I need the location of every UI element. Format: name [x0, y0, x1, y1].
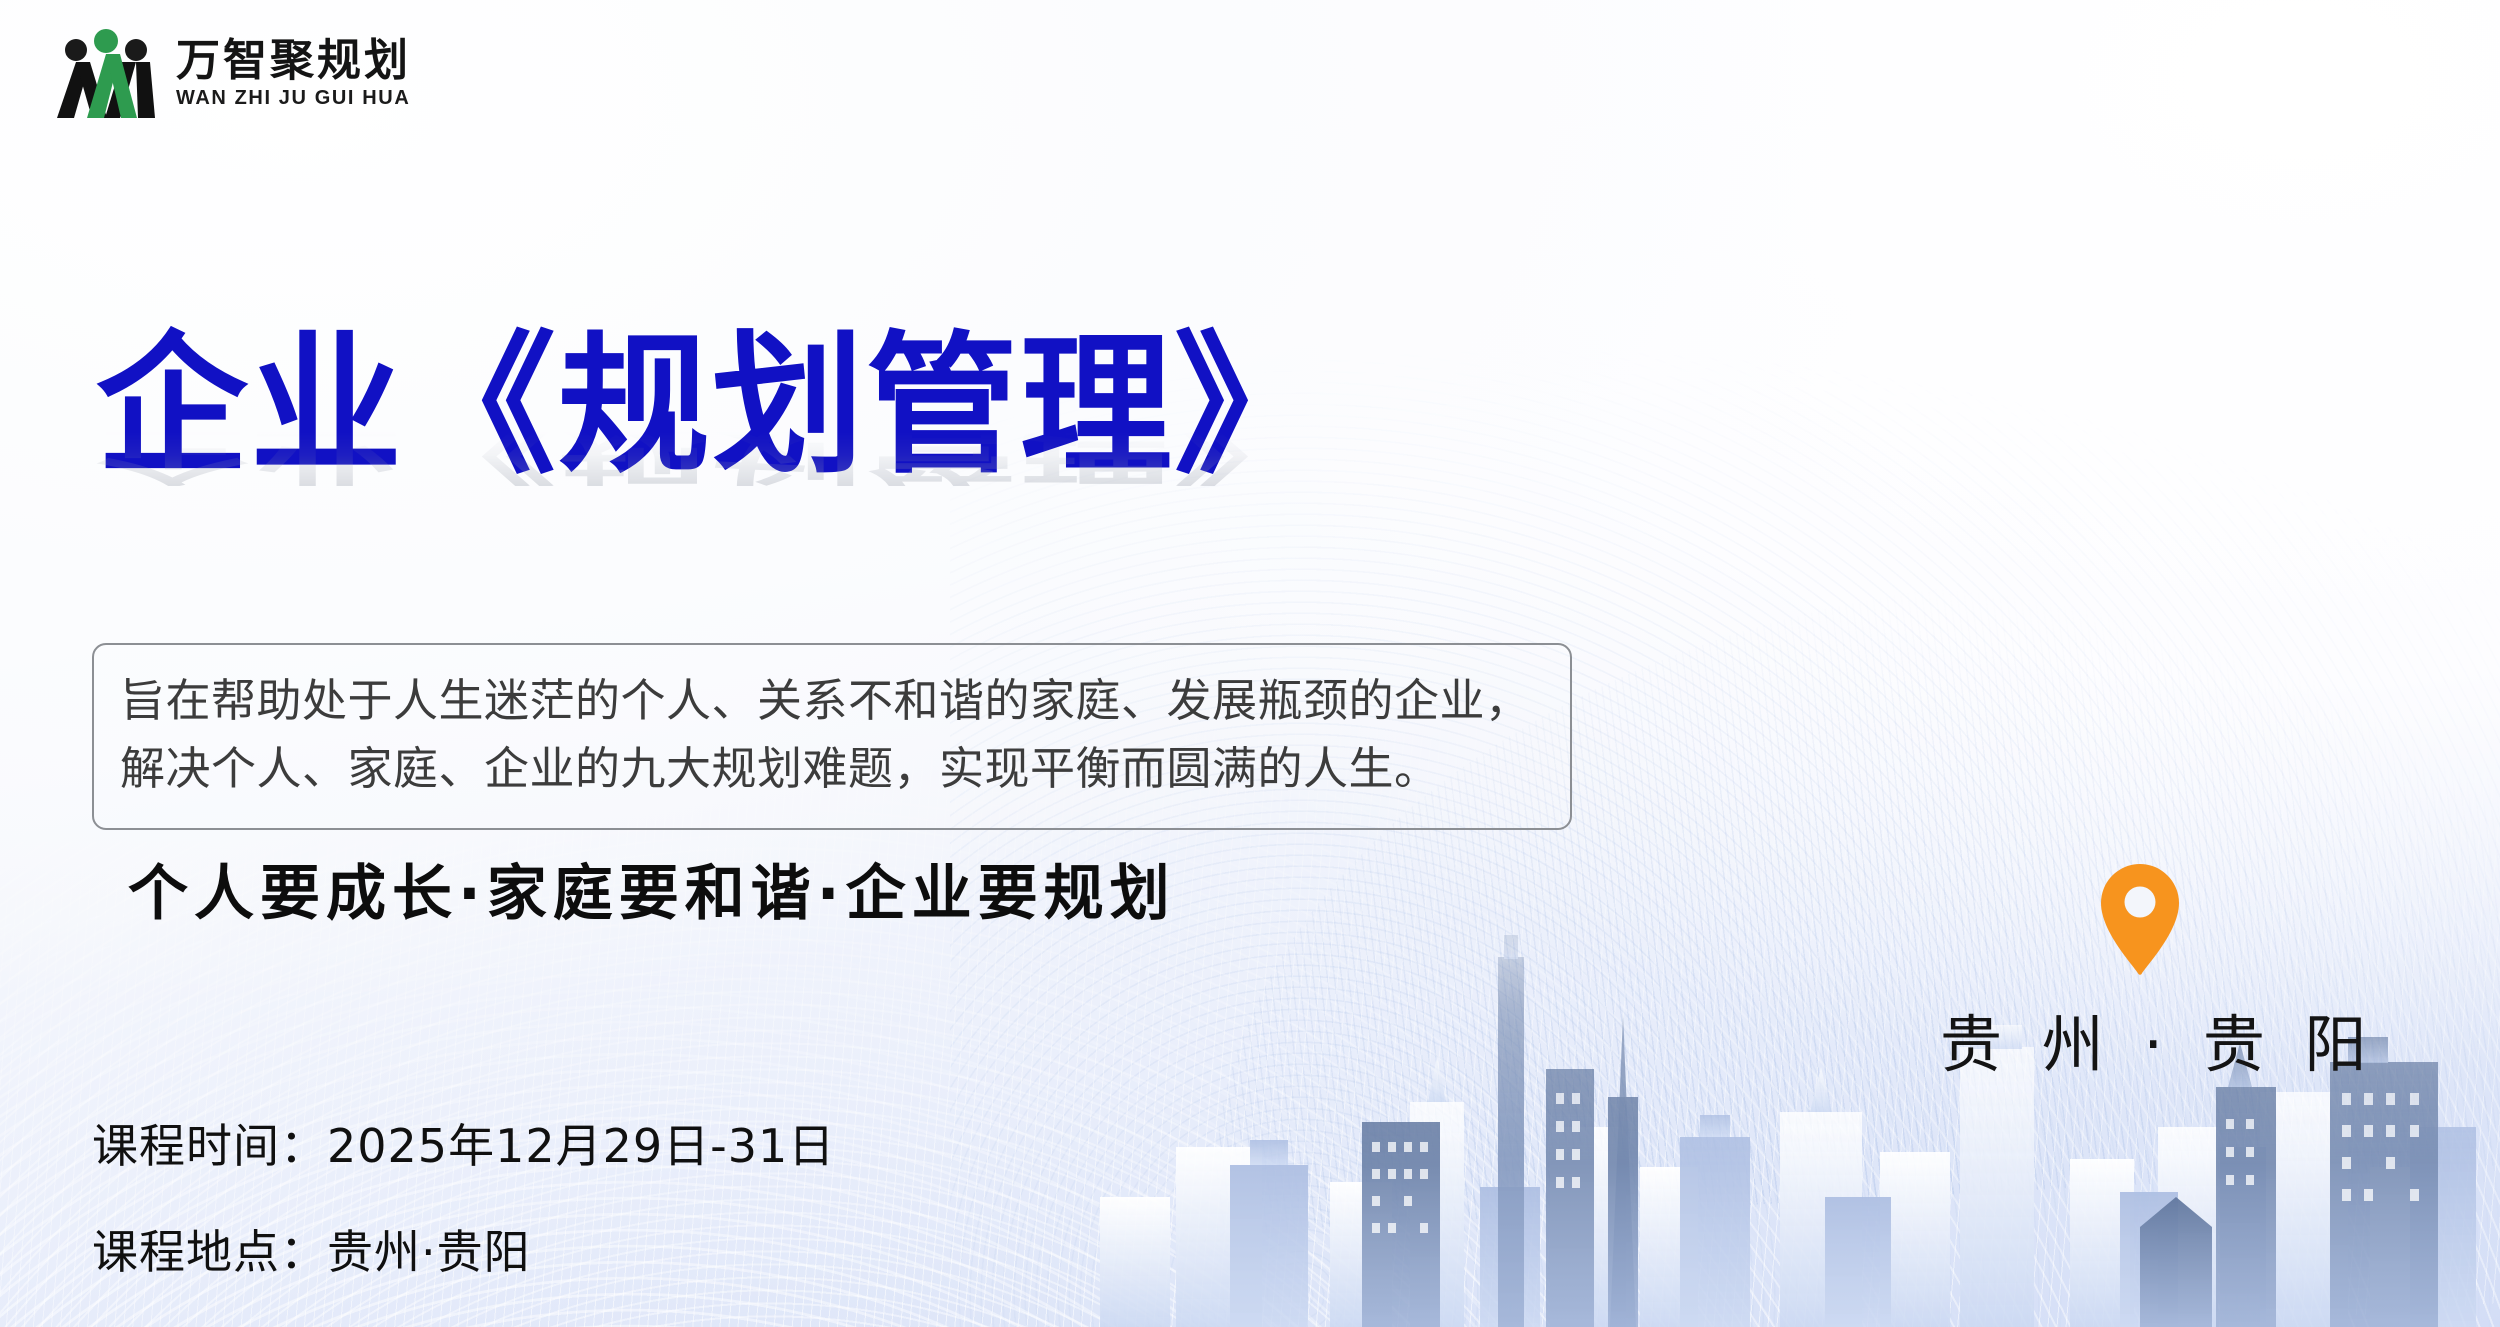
poster-canvas: 万智聚规划 WAN ZHI JU GUI HUA 企业《规划管理》 企业《规划管…	[0, 0, 2500, 1327]
hero-title-block: 企业《规划管理》 企业《规划管理》	[96, 330, 1656, 638]
location-label: 贵 州 · 贵 阳	[1940, 994, 2340, 1084]
description-line-2: 解决个人、家庭、企业的九大规划难题，实现平衡而圆满的人生。	[120, 735, 1544, 803]
course-place-row: 课程地点：贵州·贵阳	[92, 1216, 835, 1282]
brand-name-cn: 万智聚规划	[176, 38, 411, 84]
brand-text: 万智聚规划 WAN ZHI JU GUI HUA	[176, 38, 411, 111]
course-info: 课程时间：2025年12月29日-31日 课程地点：贵州·贵阳	[92, 1110, 835, 1322]
slogan-text: 个人要成长·家庭要和谐·企业要规划	[128, 845, 1176, 932]
course-time-row: 课程时间：2025年12月29日-31日	[92, 1110, 835, 1176]
description-box: 旨在帮助处于人生迷茫的个人、关系不和谐的家庭、发展瓶颈的企业， 解决个人、家庭、…	[92, 643, 1572, 830]
description-line-1: 旨在帮助处于人生迷茫的个人、关系不和谐的家庭、发展瓶颈的企业，	[120, 667, 1544, 735]
map-pin-icon	[1940, 860, 2340, 980]
brand-name-en: WAN ZHI JU GUI HUA	[176, 87, 411, 110]
three-people-m-logo-icon	[52, 26, 160, 122]
location-block: 贵 州 · 贵 阳	[1940, 860, 2340, 1084]
brand-logo: 万智聚规划 WAN ZHI JU GUI HUA	[52, 26, 411, 122]
page-title-reflection: 企业《规划管理》	[96, 422, 1656, 486]
